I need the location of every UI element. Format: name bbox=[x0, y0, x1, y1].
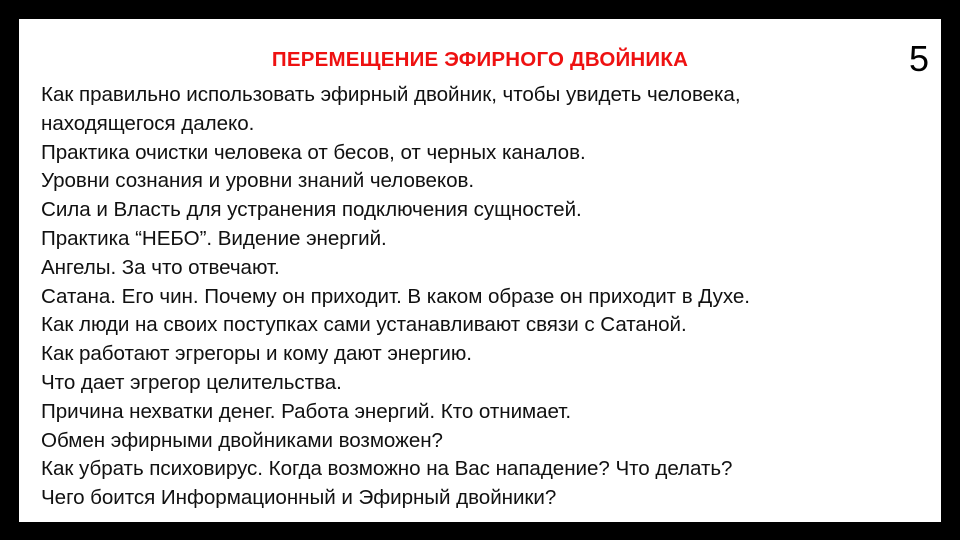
list-item: Как убрать психовирус. Когда возможно на… bbox=[41, 455, 931, 484]
list-item: Сила и Власть для устранения подключения… bbox=[41, 196, 931, 225]
list-item: Что дает эгрегор целительства. bbox=[41, 369, 931, 398]
list-item: Практика очистки человека от бесов, от ч… bbox=[41, 139, 931, 168]
list-item: Причина нехватки денег. Работа энергий. … bbox=[41, 398, 931, 427]
list-item: Сатана. Его чин. Почему он приходит. В к… bbox=[41, 283, 931, 312]
slide-body-list: Как правильно использовать эфирный двойн… bbox=[41, 81, 931, 513]
list-item: Ангелы. За что отвечают. bbox=[41, 254, 931, 283]
list-item: Уровни сознания и уровни знаний человеко… bbox=[41, 167, 931, 196]
list-item: Чего боится Информационный и Эфирный дво… bbox=[41, 484, 931, 513]
slide-canvas: 5 ПЕРЕМЕЩЕНИЕ ЭФИРНОГО ДВОЙНИКА Как прав… bbox=[19, 19, 941, 522]
slide-frame: 5 ПЕРЕМЕЩЕНИЕ ЭФИРНОГО ДВОЙНИКА Как прав… bbox=[0, 0, 960, 540]
list-item: Как правильно использовать эфирный двойн… bbox=[41, 81, 931, 110]
list-item: Практика “НЕБО”. Видение энергий. bbox=[41, 225, 931, 254]
list-item: Как люди на своих поступках сами устанав… bbox=[41, 311, 931, 340]
page-title: ПЕРЕМЕЩЕНИЕ ЭФИРНОГО ДВОЙНИКА bbox=[19, 48, 941, 72]
list-item: находящегося далеко. bbox=[41, 110, 931, 139]
list-item: Обмен эфирными двойниками возможен? bbox=[41, 427, 931, 456]
list-item: Как работают эгрегоры и кому дают энерги… bbox=[41, 340, 931, 369]
